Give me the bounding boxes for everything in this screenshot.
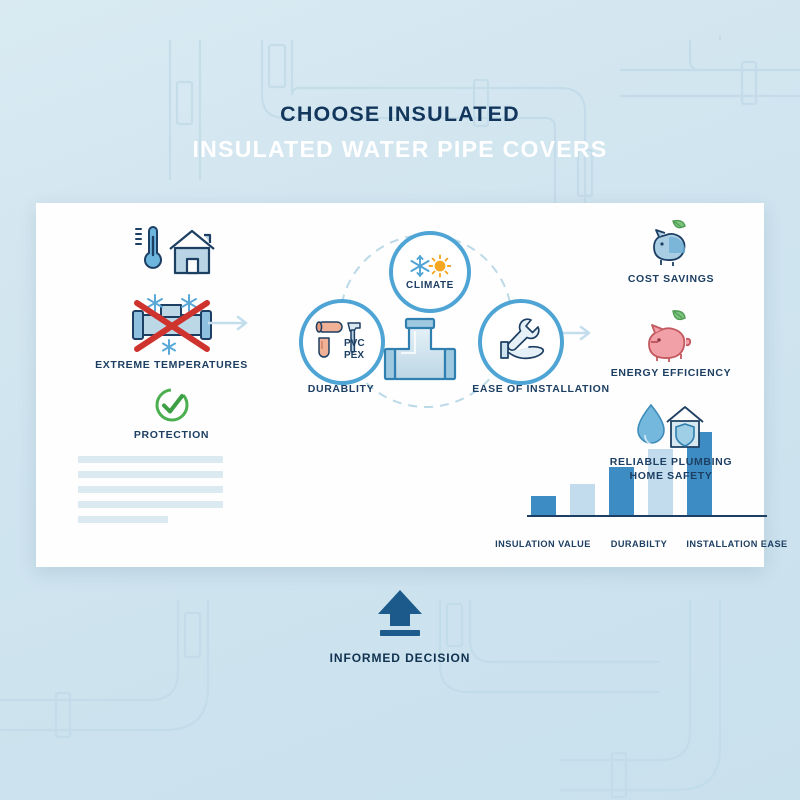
chart-tick-label: INSTALLATION EASE [683,538,791,550]
bottom-section: INFORMED DECISION [0,588,800,665]
circle-durability[interactable]: PVC PEX [299,299,385,385]
page-title-line1: CHOOSE INSULATED [0,100,800,128]
up-arrow-icon [374,588,426,638]
arrow-right-icon [208,315,254,336]
center-diagram: CLIMATE PVC PEX [251,217,581,557]
placeholder-line [78,471,223,478]
placeholder-line [78,486,223,493]
benefit-energy-efficiency: ENERGY EFFICIENCY [591,309,751,381]
page-title-line2: INSULATED WATER PIPE COVERS [0,134,800,164]
placeholder-line [78,456,223,463]
thermometer-house-icon [84,223,259,279]
piggy-bank-leaf-pink-icon [591,309,751,363]
chart-axis-line [527,515,767,517]
wrench-hand-icon [493,316,549,368]
text-placeholder-block [78,456,223,531]
water-drop-house-shield-icon [591,402,751,452]
pipe-hammer-icon: PVC PEX [314,316,370,368]
right-item-label-cost-savings: COST SAVINGS [591,273,751,287]
right-item-label-energy-efficiency: ENERGY EFFICIENCY [591,367,751,381]
right-column: COST SAVINGS [591,217,751,499]
benefit-reliable-plumbing: RELIABLE PLUMBING HOME SAFETY [591,402,751,483]
material-label-pex: PEX [344,350,364,361]
chart-bar [531,496,556,516]
circle-climate[interactable]: CLIMATE [389,231,471,313]
snowflake-sun-icon [409,254,451,278]
sun-icon [430,255,451,276]
circle-label-climate: CLIMATE [406,280,454,291]
placeholder-line [78,501,223,508]
green-check-icon [84,385,259,425]
left-item-label-extreme-temperatures: EXTREME TEMPERATURES [84,359,259,373]
infographic-canvas: CHOOSE INSULATED INSULATED WATER PIPE CO… [0,0,800,800]
header: CHOOSE INSULATED INSULATED WATER PIPE CO… [0,100,800,164]
bottom-label-informed-decision: INFORMED DECISION [0,651,800,665]
chart-tick-label: INSULATION VALUE [491,538,595,550]
main-card: EXTREME TEMPERATURES PROTECTION [36,203,764,567]
right-item-label-reliable-plumbing: RELIABLE PLUMBING HOME SAFETY [591,456,751,483]
material-label-pvc: PVC [344,338,365,349]
placeholder-line [78,516,168,523]
benefit-cost-savings: COST SAVINGS [591,217,751,287]
circle-ease-of-installation[interactable] [478,299,564,385]
piggy-bank-leaf-blue-icon [591,217,751,269]
center-label-durability: DURABLITY [281,383,401,397]
left-item-label-protection: PROTECTION [84,429,259,443]
chart-tick-label: DURABILTY [595,538,683,550]
tee-pipe-fitting-icon [381,317,459,391]
chart-tick-labels: INSULATION VALUE DURABILTY INSTALLATION … [491,538,791,550]
